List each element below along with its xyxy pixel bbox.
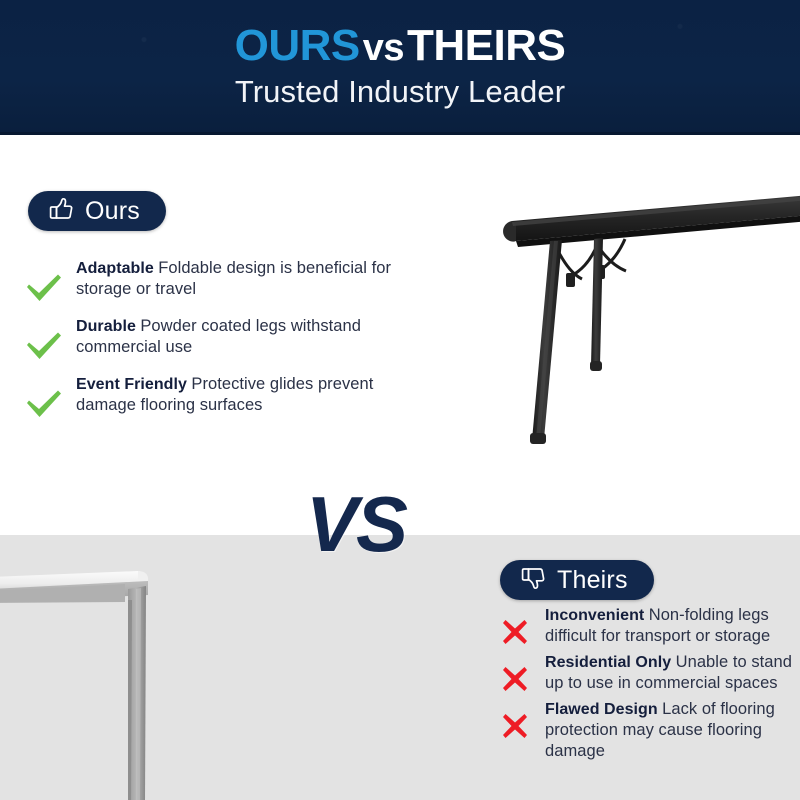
- list-item: Residential Only Unable to stand up to u…: [495, 652, 795, 694]
- ours-badge-label: Ours: [85, 198, 140, 224]
- green-check-icon: [22, 258, 66, 304]
- page-title: OURSvsTHEIRS: [0, 22, 800, 72]
- list-item: Event Friendly Protective glides prevent…: [22, 374, 422, 420]
- list-item-text: Inconvenient Non-folding legs difficult …: [545, 605, 795, 647]
- title-ours-word: OURS: [235, 21, 360, 70]
- theirs-product-image: [0, 545, 210, 800]
- thumbs-up-icon: [48, 196, 74, 227]
- list-item: Adaptable Foldable design is beneficial …: [22, 258, 422, 304]
- red-x-icon: [495, 699, 535, 741]
- vs-divider-label: VS: [306, 484, 406, 564]
- list-item-text: Residential Only Unable to stand up to u…: [545, 652, 795, 694]
- page-subtitle: Trusted Industry Leader: [0, 74, 800, 110]
- list-item-title: Residential Only: [545, 654, 671, 671]
- list-item-text: Durable Powder coated legs withstand com…: [76, 316, 422, 358]
- list-item-text: Adaptable Foldable design is beneficial …: [76, 258, 422, 300]
- green-check-icon: [22, 316, 66, 362]
- red-x-icon: [495, 652, 535, 694]
- green-check-icon: [22, 374, 66, 420]
- red-x-icon: [495, 605, 535, 647]
- list-item-text: Flawed Design Lack of flooring protectio…: [545, 699, 795, 761]
- list-item-title: Event Friendly: [76, 376, 187, 393]
- theirs-badge: Theirs: [500, 560, 654, 600]
- ours-badge: Ours: [28, 191, 166, 231]
- list-item-title: Inconvenient: [545, 607, 644, 624]
- ours-product-image: [470, 175, 800, 540]
- infographic-canvas: OURSvsTHEIRS Trusted Industry Leader: [0, 0, 800, 800]
- list-item-title: Adaptable: [76, 260, 154, 277]
- thumbs-down-icon: [520, 565, 546, 596]
- theirs-feature-list: Inconvenient Non-folding legs difficult …: [495, 605, 795, 766]
- list-item: Flawed Design Lack of flooring protectio…: [495, 699, 795, 761]
- list-item: Durable Powder coated legs withstand com…: [22, 316, 422, 362]
- theirs-badge-label: Theirs: [557, 567, 628, 593]
- list-item: Inconvenient Non-folding legs difficult …: [495, 605, 795, 647]
- list-item-text: Event Friendly Protective glides prevent…: [76, 374, 422, 416]
- header-banner: OURSvsTHEIRS Trusted Industry Leader: [0, 0, 800, 135]
- title-vs-word: vs: [360, 27, 407, 69]
- ours-feature-list: Adaptable Foldable design is beneficial …: [22, 258, 422, 432]
- list-item-title: Flawed Design: [545, 701, 658, 718]
- list-item-title: Durable: [76, 318, 136, 335]
- title-theirs-word: THEIRS: [407, 21, 565, 70]
